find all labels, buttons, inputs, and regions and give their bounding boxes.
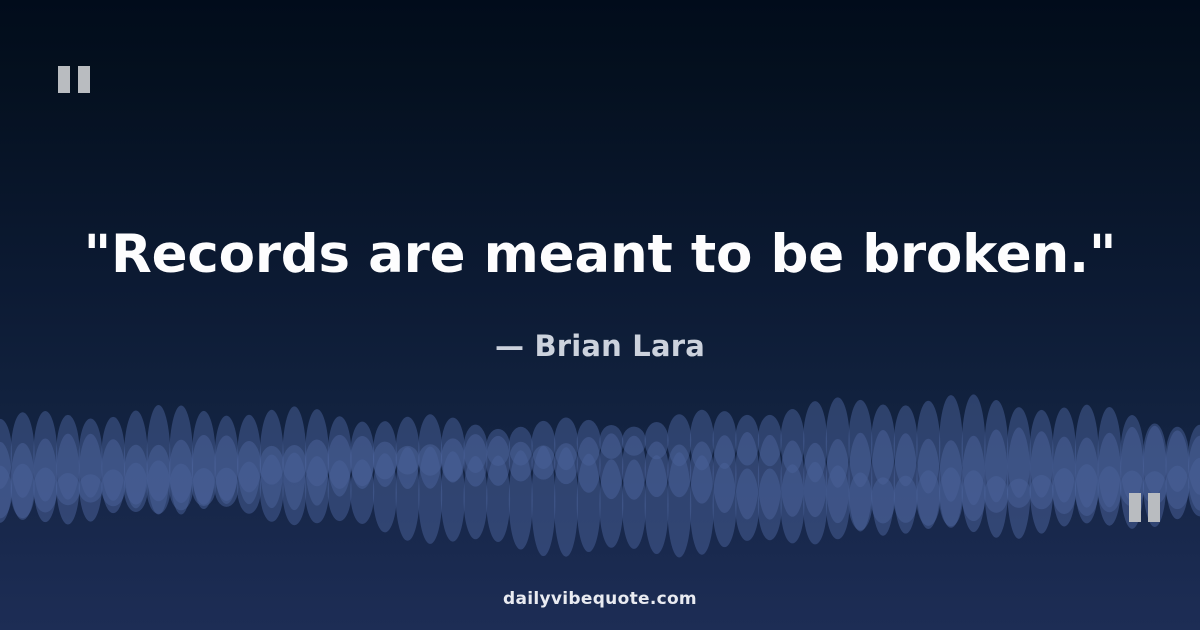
quote-text: "Records are meant to be broken." bbox=[60, 224, 1140, 287]
quote-card: "Records are meant to be broken." — Bria… bbox=[0, 0, 1200, 630]
quote-content: "Records are meant to be broken." — Bria… bbox=[0, 0, 1200, 630]
site-footer: dailyvibequote.com bbox=[60, 589, 1140, 609]
quote-author: — Brian Lara bbox=[60, 329, 1140, 363]
